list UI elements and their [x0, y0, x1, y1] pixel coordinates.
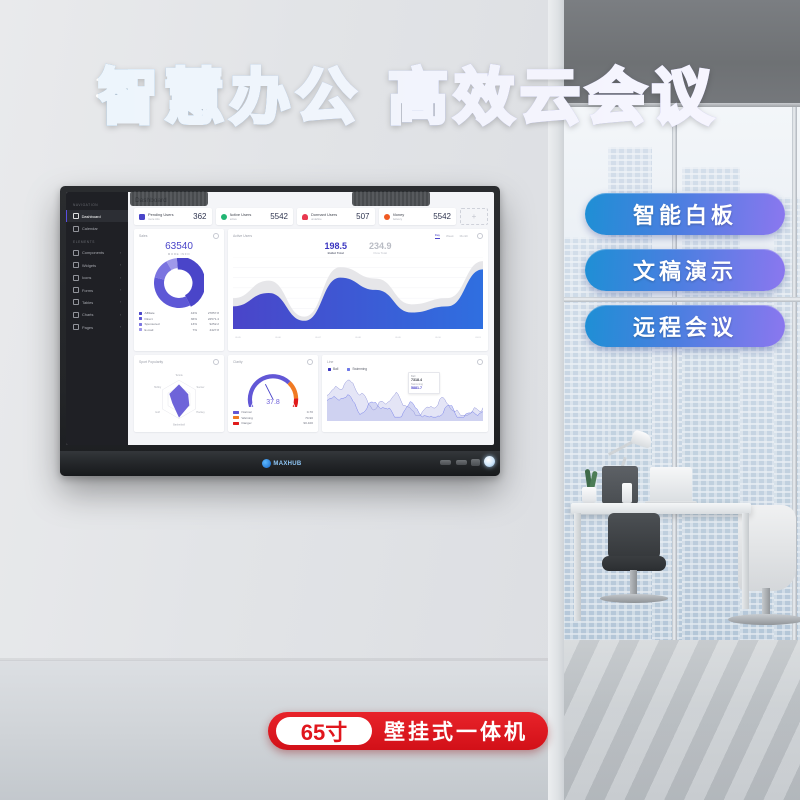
chevron-right-icon: › [120, 263, 121, 267]
legend-swatch [233, 411, 239, 414]
donut-chart-svg [154, 258, 204, 308]
sidebar-item-label: Charts [82, 312, 93, 317]
stat-card-dormant-users[interactable]: Dormant Users undefine 507 [297, 208, 375, 225]
desk-leg [574, 513, 581, 621]
line-chart-svg [327, 373, 483, 421]
alert-icon [384, 214, 390, 220]
desk-leg [742, 513, 749, 609]
legend-amount: 4427.8 [197, 328, 219, 332]
cloud-icon [221, 214, 227, 220]
svg-text:01-11: 01-11 [475, 337, 481, 339]
sidebar-item-label: Widgets [82, 263, 96, 268]
line-chart-legend: Ball Swimming [328, 367, 483, 371]
sidebar-section-navigation: NAVIGATION [66, 198, 128, 210]
donut-legend-row: Affiliate44%27857.8 [139, 311, 219, 315]
widgets-icon [73, 262, 79, 268]
legend-amount: 22571.4 [197, 317, 219, 321]
legend-label: Sponsored [145, 322, 184, 326]
sales-subtitle: MORE INFO [139, 252, 219, 256]
product-banner: 65寸 壁挂式一体机 [268, 712, 548, 750]
donut-legend-row: Direct36%22571.4 [139, 317, 219, 321]
gauge-legend: Normal0-70Warning70-90Danger90-100 [233, 410, 313, 425]
brand-mark-icon [262, 459, 271, 468]
gauge-legend-row: Warning70-90 [233, 416, 313, 420]
home-icon [73, 213, 79, 219]
feature-badge-label: 智能白板 [633, 198, 737, 230]
speaker-grille-right [352, 191, 430, 206]
sidebar-item-label: Components [82, 250, 104, 255]
flow-total-value: 234.9 [369, 241, 392, 251]
dashboard-row-2: Sales 63540 MORE INFO [134, 229, 488, 351]
office-chair-black [608, 513, 660, 559]
legend-amount: 9252.2 [197, 322, 219, 326]
bookmark-icon [139, 214, 145, 220]
legend-label: Affiliate [145, 311, 184, 315]
bullet-total-label: Bullet Total [324, 251, 347, 255]
icons-icon [73, 275, 79, 281]
feature-badge-list: 智能白板 文稿演示 远程会议 [585, 193, 785, 361]
sidebar-item-tables[interactable]: Tables › [66, 296, 128, 308]
sidebar-section-elements: ELEMENTS [66, 235, 128, 247]
svg-text:01-08: 01-08 [355, 337, 361, 339]
chevron-right-icon: › [120, 288, 121, 292]
calendar-icon [73, 226, 79, 232]
donut-legend-row: Sponsored13%9252.2 [139, 322, 219, 326]
stat-sublabel: active [230, 217, 267, 221]
stat-sublabel: more info [148, 217, 189, 221]
svg-text:Golf: Golf [155, 410, 160, 414]
tables-icon [73, 299, 79, 305]
line-chart-tooltip: Ball 7318.4 Swimming 5881.7 [408, 372, 440, 394]
svg-text:01-07: 01-07 [315, 337, 321, 339]
wall-seam [0, 658, 560, 661]
feature-badge-whiteboard[interactable]: 智能白板 [585, 193, 785, 235]
sidebar-item-calendar[interactable]: Calendar [66, 222, 128, 234]
legend-amount: 27857.8 [197, 311, 219, 315]
chevron-right-icon: › [120, 300, 121, 304]
card-active-users: Active Users Day Week Month [228, 229, 488, 351]
legend-label: Danger [242, 421, 292, 425]
charts-icon [73, 312, 79, 318]
office-floor [560, 640, 800, 800]
legend-range: 70-90 [291, 416, 313, 420]
sport-popularity-radar-chart: TennisSoccerHockeyBasketballGolfHobby [139, 367, 219, 427]
sidebar-item-charts[interactable]: Charts › [66, 309, 128, 321]
tab-day[interactable]: Day [435, 233, 440, 239]
tab-month[interactable]: Month [460, 234, 468, 238]
legend-label: Swimming [352, 367, 367, 371]
tooltip-value: 5881.7 [411, 386, 437, 390]
active-users-totals: 198.5 Bullet Total 234.9 Flow Total [233, 241, 483, 255]
desk [571, 503, 751, 514]
office-chair-white-base [728, 614, 800, 625]
sidebar-item-icons[interactable]: Icons › [66, 272, 128, 284]
screen-size-chip: 65寸 [276, 717, 372, 745]
legend-swatch [233, 422, 239, 425]
speaker-grille-left [130, 191, 208, 206]
tooltip-value: 7318.4 [411, 378, 437, 382]
window-mullion [792, 107, 797, 667]
pages-icon [73, 324, 79, 330]
add-widget-button[interactable]: + [460, 208, 488, 225]
legend-range: 90-100 [291, 421, 313, 425]
heart-icon [302, 214, 308, 220]
svg-text:Hockey: Hockey [196, 410, 205, 414]
legend-swatch [139, 312, 142, 315]
active-users-area-chart [233, 257, 483, 329]
card-gauge: Clarity 37.8 Normal0-70Warning70-90Dange… [228, 355, 318, 432]
legend-percent: 13% [183, 322, 197, 326]
interactive-flat-panel: NAVIGATION Dashboard Calendar ELEMENTS C… [60, 186, 500, 476]
feature-badge-label: 文稿演示 [633, 254, 737, 286]
gauge-value: 37.8 [228, 399, 318, 406]
card-sport-popularity: Sport Popularity TennisSoccerHockeyBaske… [134, 355, 224, 432]
dashboard-row-3: Sport Popularity TennisSoccerHockeyBaske… [134, 355, 488, 432]
stat-sublabel: undefine [311, 217, 352, 221]
feature-badge-presentation[interactable]: 文稿演示 [585, 249, 785, 291]
office-chair-black-seat [602, 556, 666, 571]
tv-button-2[interactable] [456, 460, 467, 465]
tv-port[interactable] [471, 459, 480, 466]
donut-legend-row: E-mail7%4427.8 [139, 328, 219, 332]
stat-value: 5542 [270, 212, 288, 221]
dashboard-content: Dashboard Pending Users more info 362 [128, 192, 494, 445]
card-sales: Sales 63540 MORE INFO [134, 229, 224, 351]
sidebar-item-forms[interactable]: Forms › [66, 284, 128, 296]
dashboard-app: NAVIGATION Dashboard Calendar ELEMENTS C… [66, 192, 494, 445]
active-users-axis-labels: 01-0501-0601-0701-0801-0901-1001-11 [233, 330, 483, 346]
stat-value: 362 [193, 212, 206, 221]
sidebar-item-label: Dashboard [82, 214, 101, 219]
svg-text:Hobby: Hobby [154, 385, 162, 389]
legend-swatch [139, 323, 142, 326]
feature-badge-label: 远程会议 [633, 310, 737, 342]
legend-percent: 7% [183, 328, 197, 332]
power-indicator-icon[interactable] [484, 456, 495, 467]
legend-percent: 36% [183, 317, 197, 321]
sidebar-item-label: Icons [82, 275, 91, 280]
card-title: Line [327, 360, 333, 364]
gear-icon[interactable] [213, 359, 219, 365]
donut-chart [139, 258, 219, 308]
svg-text:01-06: 01-06 [275, 337, 281, 339]
sidebar-item-components[interactable]: Components › [66, 247, 128, 259]
gear-icon[interactable] [477, 233, 483, 239]
components-icon [73, 250, 79, 256]
stat-sublabel: delivery [393, 217, 430, 221]
gauge-legend-row: Normal0-70 [233, 410, 313, 414]
stat-value: 5542 [433, 212, 451, 221]
legend-label: Direct [145, 317, 184, 321]
sidebar-item-label: Pages [82, 325, 93, 330]
mount-type-label: 壁挂式一体机 [372, 716, 540, 746]
card-title: Clarity [233, 360, 243, 364]
feature-badge-remote-meeting[interactable]: 远程会议 [585, 305, 785, 347]
sidebar-item-pages[interactable]: Pages › [66, 321, 128, 333]
brand-name: MAXHUB [273, 461, 301, 467]
flow-total-label: Flow Total [369, 251, 392, 255]
card-title: Sport Popularity [139, 360, 163, 364]
gear-icon[interactable] [477, 359, 483, 365]
monitor [602, 466, 638, 504]
sidebar: NAVIGATION Dashboard Calendar ELEMENTS C… [66, 192, 128, 445]
sidebar-item-widgets[interactable]: Widgets › [66, 259, 128, 271]
sales-value: 63540 [139, 241, 219, 252]
legend-swatch [139, 317, 142, 320]
legend-item-swimming[interactable]: Swimming [347, 367, 367, 371]
legend-swatch [233, 416, 239, 419]
svg-text:Basketball: Basketball [173, 422, 185, 426]
legend-label: E-mail [145, 328, 184, 332]
page-title: 智慧办公高效云会议 [98, 62, 718, 134]
sidebar-item-dashboard[interactable]: Dashboard [66, 210, 128, 222]
stat-card-money[interactable]: Money delivery 5542 [379, 208, 457, 225]
card-title: Active Users [233, 234, 252, 238]
svg-text:Soccer: Soccer [197, 385, 205, 389]
legend-label: Warning [242, 416, 292, 420]
svg-text:01-09: 01-09 [395, 337, 401, 339]
legend-label: Ball [333, 367, 338, 371]
gear-icon[interactable] [307, 359, 313, 365]
sidebar-item-label: Calendar [82, 226, 98, 231]
stat-value: 507 [356, 212, 369, 221]
gauge-legend-row: Danger90-100 [233, 421, 313, 425]
laptop-screen [650, 467, 692, 503]
stat-card-active-users[interactable]: Active Users active 5542 [216, 208, 294, 225]
window-mullion [672, 107, 677, 667]
sidebar-item-label: Forms [82, 288, 93, 293]
tv-button-1[interactable] [440, 460, 451, 465]
headline-part-1: 智慧办公 [98, 64, 362, 131]
tv-screen[interactable]: NAVIGATION Dashboard Calendar ELEMENTS C… [66, 192, 494, 445]
chevron-right-icon: › [120, 325, 121, 329]
legend-swatch [139, 328, 142, 331]
brand-logo: MAXHUB [260, 458, 304, 469]
card-title: Sales [139, 234, 147, 238]
chevron-right-icon: › [120, 313, 121, 317]
legend-label: Normal [242, 410, 292, 414]
plant-pot [582, 487, 596, 503]
office-chair-black-base [600, 594, 668, 603]
bullet-total-value: 198.5 [324, 241, 347, 251]
legend-range: 0-70 [291, 410, 313, 414]
legend-item-ball[interactable]: Ball [328, 367, 338, 371]
card-line: Line Ball Swimming [322, 355, 488, 432]
sidebar-item-label: Tables [82, 300, 93, 305]
gear-icon[interactable] [213, 233, 219, 239]
poster-stage: 智慧办公高效云会议 智能白板 文稿演示 远程会议 NAVIGATION Dash… [0, 0, 800, 800]
screen-size-label: 65寸 [301, 715, 347, 747]
chevron-right-icon: › [120, 276, 121, 280]
svg-text:01-05: 01-05 [235, 337, 241, 339]
stat-card-row: Pending Users more info 362 Active Users… [134, 208, 488, 225]
forms-icon [73, 287, 79, 293]
headline-part-2: 高效云会议 [388, 64, 718, 131]
pen-cup [622, 483, 632, 503]
donut-legend: Affiliate44%27857.8Direct36%22571.4Spons… [139, 311, 219, 332]
chevron-right-icon: › [120, 251, 121, 255]
svg-text:01-10: 01-10 [435, 337, 441, 339]
tab-week[interactable]: Week [446, 234, 454, 238]
svg-text:Tennis: Tennis [175, 373, 183, 377]
stat-card-pending-users[interactable]: Pending Users more info 362 [134, 208, 212, 225]
legend-percent: 44% [183, 311, 197, 315]
